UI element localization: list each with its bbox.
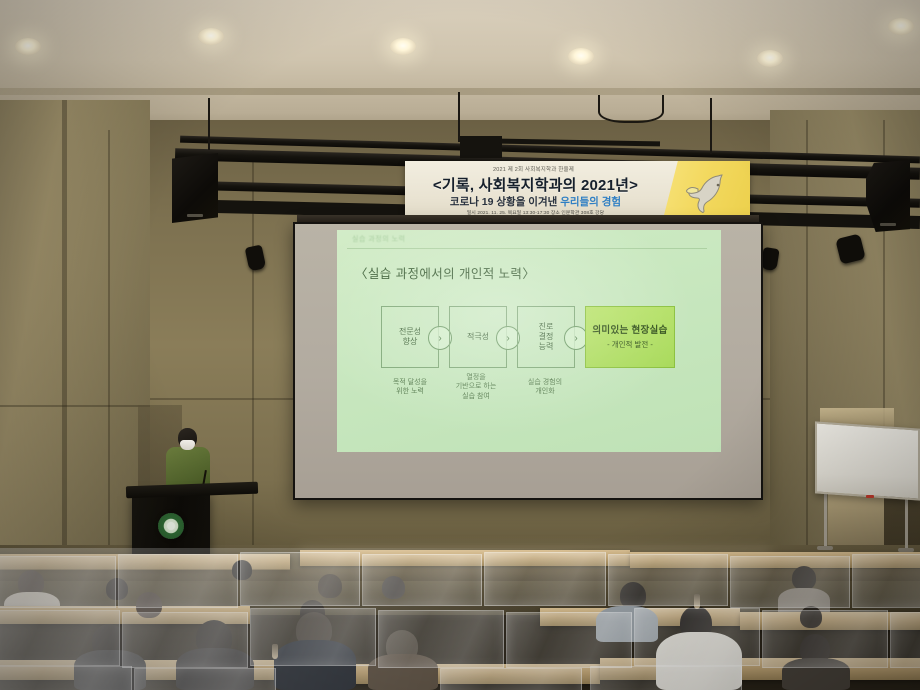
speaker-badge (880, 223, 896, 226)
whiteboard-marker (866, 495, 874, 498)
process-step-2-label: 적극성 (467, 332, 489, 342)
acrylic-desk-divider (362, 554, 482, 606)
ceiling-downlight (888, 18, 914, 35)
acrylic-desk-divider (484, 552, 606, 606)
acrylic-desk-divider (134, 668, 276, 690)
acrylic-desk-divider (590, 666, 742, 690)
acrylic-desk-divider (608, 554, 728, 606)
acrylic-desk-divider (118, 554, 238, 608)
wall-panel-seam (108, 130, 110, 560)
projected-slide: 실습 과정의 노력 〈실습 과정에서의 개인적 노력〉 전문성향상 › 적극성 … (337, 230, 721, 452)
banner-subtitle: 2021 제 2회 사회복지학과 한울제 (405, 165, 662, 173)
acrylic-desk-divider (0, 556, 116, 608)
ceiling-downlight (390, 38, 416, 55)
process-step-4-sublabel: - 개인적 발전 - (607, 340, 653, 349)
banner-secondary-line: 코로나 19 상황을 이겨낸 우리들의 경험 (405, 194, 666, 209)
left-wall-speaker (172, 153, 218, 223)
ceiling-downlight (198, 28, 224, 45)
speaker-badge (187, 214, 203, 217)
process-caption-3: 실습 경험의개인화 (515, 378, 575, 397)
slide-title: 〈실습 과정에서의 개인적 노력〉 (355, 263, 535, 282)
acrylic-desk-divider (378, 610, 504, 668)
ceiling-downlight (568, 48, 594, 65)
acrylic-desk-divider (250, 608, 376, 666)
audience-area (0, 548, 920, 690)
banner-line2-accent: 우리들의 경험 (560, 196, 621, 208)
slide-header: 실습 과정의 노력 (352, 234, 405, 244)
university-emblem-icon (158, 513, 184, 539)
acrylic-desk-divider (506, 612, 632, 668)
banner-title: <기록, 사회복지학과의 2021년> (405, 174, 666, 195)
ceiling-downlight (15, 38, 41, 55)
ceiling-downlight (757, 50, 783, 67)
truss-hanger (710, 98, 712, 154)
ceiling-edge-trim (0, 88, 920, 95)
truss-hanger (208, 98, 210, 150)
acrylic-desk-divider (122, 612, 248, 668)
dolphin-icon (678, 171, 734, 213)
wall-panel-seam (0, 405, 150, 407)
truss-hanger (458, 92, 460, 142)
process-caption-1: 목적 달성을위한 노력 (381, 378, 439, 397)
process-step-4-highlighted: 의미있는 현장실습 - 개인적 발전 - (585, 306, 675, 368)
acrylic-desk-divider (634, 608, 760, 666)
acrylic-desk-divider (852, 554, 920, 608)
process-chain: 전문성향상 › 적극성 › 진로결정능력 › 의미있는 현장실습 - 개인적 발… (381, 306, 675, 368)
truss-block (460, 136, 502, 158)
left-wall-seam (62, 100, 67, 570)
acrylic-desk-divider (440, 668, 582, 690)
process-step-4-label: 의미있는 현장실습 (592, 325, 667, 337)
banner-line2-prefix: 코로나 19 상황을 이겨낸 (450, 196, 560, 208)
process-caption-2: 열정을기반으로 하는실습 참여 (445, 373, 507, 401)
lecture-hall-photo: 2021 제 2회 사회복지학과 한울제 <기록, 사회복지학과의 2021년>… (0, 0, 920, 690)
acrylic-desk-divider (730, 556, 850, 608)
acrylic-desk-divider (240, 552, 360, 606)
acrylic-desk-divider (890, 612, 920, 668)
event-banner: 2021 제 2회 사회복지학과 한울제 <기록, 사회복지학과의 2021년>… (405, 161, 750, 223)
mobile-whiteboard (815, 421, 920, 500)
hanging-cable (598, 95, 664, 123)
right-wall-speaker (866, 160, 910, 232)
acrylic-desk-divider (0, 666, 132, 690)
left-wall (0, 100, 150, 570)
process-step-1-label: 전문성향상 (399, 327, 421, 347)
process-step-3-label: 진로결정능력 (539, 322, 554, 352)
slide-divider (347, 248, 707, 249)
acrylic-desk-divider (762, 610, 888, 668)
whiteboard-leg (824, 488, 827, 548)
acrylic-desk-divider (0, 610, 120, 666)
wall-panel-seam (806, 120, 808, 560)
